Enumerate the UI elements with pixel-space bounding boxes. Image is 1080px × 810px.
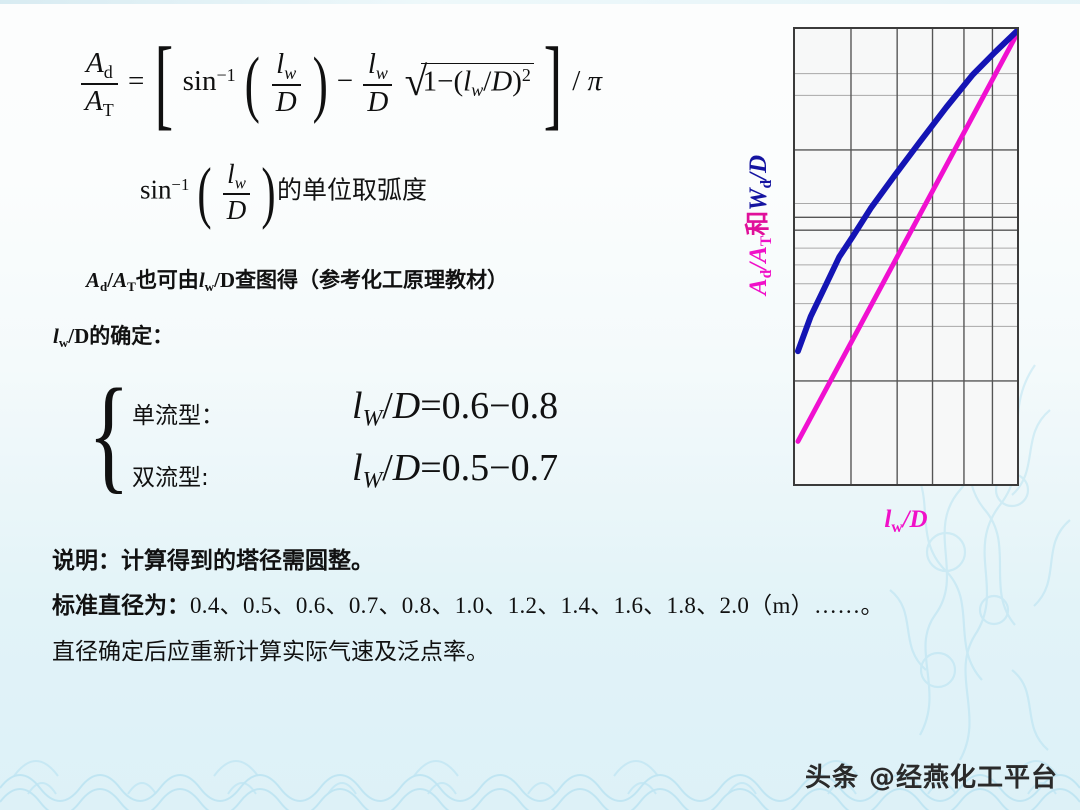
lhs-den-sub: T bbox=[103, 99, 114, 119]
watermark-text: 头条 @经燕化工平台 bbox=[805, 757, 1058, 794]
top-edge-highlight bbox=[0, 0, 1080, 4]
ref-b-sub: T bbox=[127, 279, 136, 294]
chart-y-axis-label: Ad/AT和Wd/D bbox=[738, 110, 776, 340]
lw-sub-2: w bbox=[376, 63, 388, 83]
brace-row-double-flow: 双流型: lW/D=0.5−0.7 bbox=[132, 450, 652, 506]
ylabel-w: W bbox=[745, 189, 772, 211]
formula-downcomer-area: Ad AT = [ sin−1 ( lw D ) − lw D √ 1−(lw/… bbox=[78, 44, 602, 123]
lw-over-D-fraction-3: lw D bbox=[223, 160, 251, 225]
ref-slash-2: /D bbox=[214, 268, 235, 292]
rad-lw-sub: w bbox=[471, 80, 483, 100]
rad-lw-var: l bbox=[463, 65, 471, 97]
recalculate-note-line: 直径确定后应重新计算实际气速及泛点率。 bbox=[52, 632, 489, 666]
sin-operator-2: sin bbox=[140, 175, 172, 205]
ylabel-at: A bbox=[745, 246, 772, 263]
radical-sign-icon: √ bbox=[405, 61, 428, 102]
rad-D-var: D bbox=[491, 65, 512, 97]
chart-x-axis-label: lw/D bbox=[793, 506, 1019, 537]
df-equals: = bbox=[420, 447, 441, 489]
paren-open-2: ( bbox=[197, 165, 211, 220]
pi-symbol: π bbox=[588, 65, 603, 97]
double-flow-equation: lW/D=0.5−0.7 bbox=[352, 446, 558, 495]
rad-paren-open: ( bbox=[453, 65, 463, 97]
sin-operator: sin bbox=[183, 65, 217, 97]
lw-var-2: l bbox=[368, 48, 376, 80]
df-l-sub: W bbox=[363, 468, 383, 494]
paren-open-1: ( bbox=[245, 54, 260, 113]
df-slash: / bbox=[382, 447, 393, 489]
slide-canvas: Ad AT = [ sin−1 ( lw D ) − lw D √ 1−(lw/… bbox=[0, 0, 1080, 810]
D-var-2: D bbox=[367, 86, 388, 118]
chart-plot-area bbox=[793, 27, 1019, 486]
paren-close-1: ) bbox=[313, 54, 328, 113]
xlabel-tail: /D bbox=[903, 506, 928, 533]
single-flow-label: 单流型： bbox=[132, 396, 224, 430]
bracket-open: [ bbox=[154, 44, 173, 123]
ylabel-w-sub: d bbox=[758, 180, 775, 189]
ref-a-var: A bbox=[86, 268, 100, 292]
sf-value: 0.6−0.8 bbox=[442, 385, 558, 427]
standard-diameters-label: 标准直径为： bbox=[52, 593, 190, 619]
rad-minus: − bbox=[437, 65, 453, 97]
lw-sub-1: w bbox=[284, 63, 296, 83]
ref-tail-text: 查图得（参考化工原理教材） bbox=[235, 268, 508, 292]
divide-sign: / bbox=[572, 65, 580, 97]
ref-b-var: A bbox=[113, 268, 127, 292]
lhs-num-var: A bbox=[86, 47, 104, 79]
ylabel-a: A bbox=[745, 278, 772, 295]
chart-container: Ad/AT和Wd/D bbox=[720, 14, 1050, 544]
lw-sub-3: w bbox=[235, 173, 246, 192]
lwd-definition-line: lw/D的确定： bbox=[53, 320, 173, 351]
lw-var-1: l bbox=[276, 48, 284, 80]
sf-slash: / bbox=[382, 385, 393, 427]
lhs-num-sub: d bbox=[104, 62, 113, 82]
df-D-var: D bbox=[393, 447, 420, 489]
standard-diameters-line: 标准直径为：0.4、0.5、0.6、0.7、0.8、1.0、1.2、1.4、1.… bbox=[52, 586, 884, 620]
formula-lhs-fraction: Ad AT bbox=[81, 48, 118, 120]
ref-l-sub: w bbox=[205, 279, 214, 294]
radian-note-text: 的单位取弧度 bbox=[277, 176, 427, 205]
brace-row-single-flow: 单流型： lW/D=0.6−0.8 bbox=[132, 388, 652, 444]
sin-inverse-exponent-2: −1 bbox=[172, 175, 190, 194]
double-flow-label: 双流型: bbox=[132, 458, 209, 492]
bracket-close: ] bbox=[544, 44, 563, 123]
paren-close-2: ) bbox=[261, 165, 275, 220]
xlabel-sub: w bbox=[891, 519, 902, 536]
df-value: 0.5−0.7 bbox=[442, 447, 558, 489]
D-var-3: D bbox=[227, 195, 247, 225]
chart-svg bbox=[795, 29, 1017, 484]
lw-over-D-fraction-2: lw D bbox=[363, 49, 392, 118]
sf-D-var: D bbox=[393, 385, 420, 427]
rad-exponent: 2 bbox=[522, 65, 531, 85]
ylabel-slash-1: / bbox=[745, 263, 772, 270]
ylabel-a-sub: d bbox=[758, 270, 775, 279]
def-l-sub: w bbox=[59, 335, 68, 350]
ylabel-and-char: 和 bbox=[743, 211, 772, 236]
lhs-den-var: A bbox=[85, 85, 103, 117]
left-curly-brace-icon: { bbox=[88, 370, 130, 498]
grid-vertical bbox=[851, 29, 992, 484]
D-var-1: D bbox=[276, 86, 297, 118]
sf-l-var: l bbox=[352, 385, 363, 427]
standard-diameters-values: 0.4、0.5、0.6、0.7、0.8、1.0、1.2、1.4、1.6、1.8、… bbox=[190, 593, 884, 618]
ylabel-slash-2: / bbox=[745, 173, 772, 180]
single-flow-equation: lW/D=0.6−0.8 bbox=[352, 384, 558, 433]
rad-paren-close: ) bbox=[512, 65, 522, 97]
sf-equals: = bbox=[420, 385, 441, 427]
flow-type-brace-group: { 单流型： lW/D=0.6−0.8 双流型: lW/D=0.5−0.7 bbox=[88, 382, 648, 507]
df-l-var: l bbox=[352, 447, 363, 489]
formula-radian-note: sin−1 ( lw D )的单位取弧度 bbox=[140, 160, 427, 225]
ref-mid-text: 也可由 bbox=[136, 268, 199, 292]
def-slash: /D bbox=[68, 324, 89, 348]
ylabel-at-sub: T bbox=[758, 236, 775, 246]
lw-over-D-fraction-1: lw D bbox=[272, 49, 301, 118]
def-tail-text: 的确定： bbox=[89, 324, 173, 348]
ylabel-d: D bbox=[745, 155, 772, 173]
square-root-group: √ 1−(lw/D)2 bbox=[405, 63, 534, 101]
equals-sign: = bbox=[128, 65, 144, 97]
sf-l-sub: W bbox=[363, 406, 383, 432]
minus-sign: − bbox=[337, 65, 353, 97]
lw-var-3: l bbox=[227, 159, 235, 189]
chart-reference-line: Ad/AT也可由lw/D查图得（参考化工原理教材） bbox=[86, 264, 508, 295]
grid-minor-horizontal bbox=[795, 74, 1017, 327]
note-rounding-line: 说明：计算得到的塔径需圆整。 bbox=[52, 541, 374, 575]
sin-inverse-exponent: −1 bbox=[216, 65, 235, 85]
